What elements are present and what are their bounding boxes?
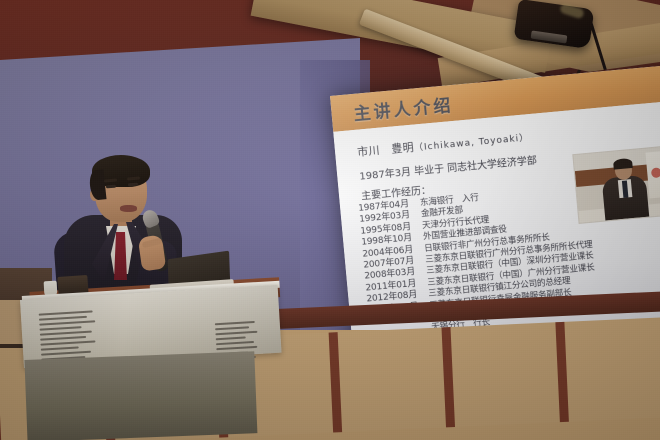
speaker-name-en: （Ichikawa, Toyoaki）	[414, 133, 530, 153]
wood-panel	[441, 322, 559, 427]
speaker-name-cn: 市川 豊明	[357, 141, 415, 159]
speaker-tie	[114, 232, 127, 280]
podium-text-block-left	[39, 310, 98, 360]
speaker-portrait-photo	[572, 146, 660, 224]
portrait-hair	[613, 158, 633, 170]
speaker-mouth	[120, 205, 137, 212]
wood-panel	[555, 317, 660, 422]
podium-body	[24, 351, 257, 440]
wood-panel	[328, 327, 446, 432]
lecture-hall-photo: 主讲人介绍 市川 豊明（Ichikawa, Toyoaki） 1987年3月 毕…	[0, 0, 660, 440]
